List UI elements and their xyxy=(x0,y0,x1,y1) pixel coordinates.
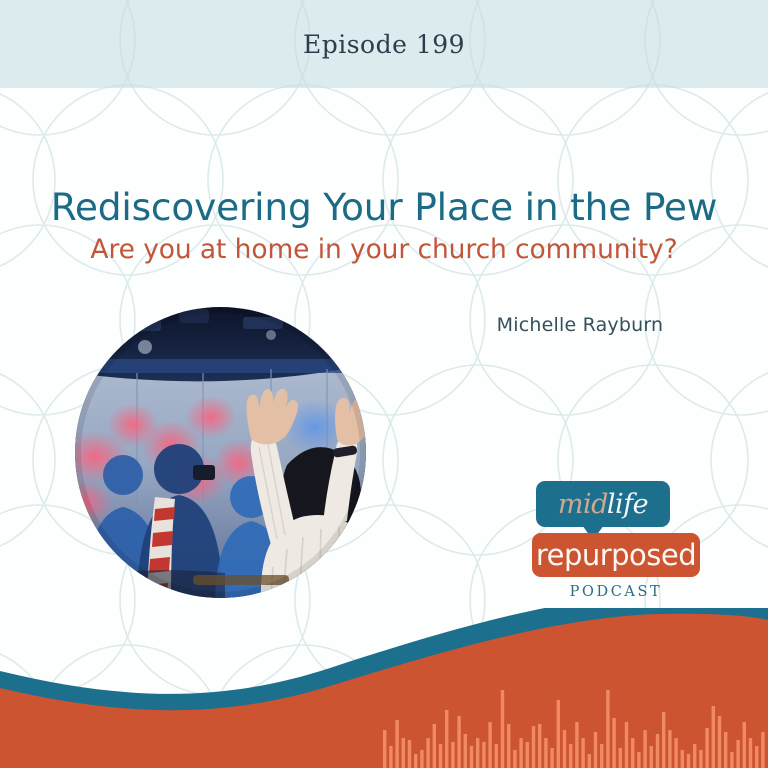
waveform-bar xyxy=(699,750,702,768)
waveform-bar xyxy=(736,740,739,768)
waveform-bar xyxy=(538,724,541,768)
waveform-bar xyxy=(650,746,653,768)
waveform-bar xyxy=(687,754,690,768)
logo-midlife-bubble: midlife xyxy=(536,481,670,527)
waveform-bar xyxy=(581,738,584,768)
waveform-bar xyxy=(612,718,615,768)
waveform-bar xyxy=(619,748,622,768)
waveform-bar xyxy=(395,720,398,768)
waveform-bar xyxy=(625,722,628,768)
logo-word-repurposed: repurposed xyxy=(536,541,696,570)
podcast-logo: midlife repurposed PODCAST xyxy=(532,481,700,600)
waveform-bar xyxy=(507,724,510,768)
waveform-bar xyxy=(637,752,640,768)
waveform-bar xyxy=(495,744,498,768)
waveform-bar xyxy=(526,742,529,768)
logo-word-mid: mid xyxy=(558,489,608,520)
waveform-bar xyxy=(588,754,591,768)
waveform-bar xyxy=(718,716,721,768)
logo-word-podcast: PODCAST xyxy=(532,584,700,600)
waveform-bar xyxy=(439,744,442,768)
waveform-bar xyxy=(488,722,491,768)
logo-repurposed-bubble: repurposed xyxy=(532,533,700,577)
waveform-bar xyxy=(420,750,423,768)
waveform-bar xyxy=(594,732,597,768)
waveform-bar xyxy=(755,746,758,768)
waveform-bar xyxy=(656,734,659,768)
waveform-bar xyxy=(402,738,405,768)
waveform-bar xyxy=(712,706,715,768)
title-block: Rediscovering Your Place in the Pew Are … xyxy=(0,186,768,266)
waveform-bar xyxy=(501,690,504,768)
host-name: Michelle Rayburn xyxy=(430,314,730,336)
worship-scene-illustration xyxy=(75,307,366,598)
waveform-bar xyxy=(674,738,677,768)
waveform-bar xyxy=(743,722,746,768)
bottom-wave-graphic xyxy=(0,608,768,768)
waveform-bar xyxy=(575,722,578,768)
waveform-bar xyxy=(389,746,392,768)
waveform-bar xyxy=(643,730,646,768)
waveform-bar xyxy=(681,750,684,768)
waveform-bar xyxy=(445,710,448,768)
waveform-bar xyxy=(532,726,535,768)
waveform-bar xyxy=(693,744,696,768)
waveform-bar xyxy=(408,740,411,768)
waveform-bar xyxy=(749,738,752,768)
waveform-bar xyxy=(544,738,547,768)
waveform-bar xyxy=(451,742,454,768)
waveform-bar xyxy=(761,732,764,768)
waveform-bar xyxy=(705,728,708,768)
episode-number-label: Episode 199 xyxy=(0,0,768,88)
logo-word-life: life xyxy=(607,489,648,520)
podcast-cover-image: Episode 199 Rediscovering Your Place in … xyxy=(0,0,768,768)
waveform-bar xyxy=(476,738,479,768)
waveform-bar xyxy=(662,712,665,768)
waveform-bar xyxy=(606,690,609,768)
waveform-bar xyxy=(600,744,603,768)
waveform-bar xyxy=(569,744,572,768)
waveform-bar xyxy=(383,730,386,768)
waveform-bar xyxy=(724,732,727,768)
episode-title: Rediscovering Your Place in the Pew xyxy=(0,186,768,228)
waveform-bar xyxy=(550,748,553,768)
waveform-bar xyxy=(557,700,560,768)
episode-photo xyxy=(75,307,366,598)
waveform-bar xyxy=(482,742,485,768)
waveform-bar xyxy=(433,724,436,768)
waveform-bar xyxy=(426,738,429,768)
waveform-bar xyxy=(668,730,671,768)
waveform-bar xyxy=(631,738,634,768)
waveform-bar xyxy=(414,754,417,768)
waveform-bar xyxy=(470,746,473,768)
waveform-bar xyxy=(457,716,460,768)
waveform-bar xyxy=(730,752,733,768)
waveform-bar xyxy=(563,730,566,768)
waveform-bar xyxy=(513,750,516,768)
waveform-bar xyxy=(464,734,467,768)
waveform-bar xyxy=(519,738,522,768)
episode-subtitle: Are you at home in your church community… xyxy=(0,234,768,266)
